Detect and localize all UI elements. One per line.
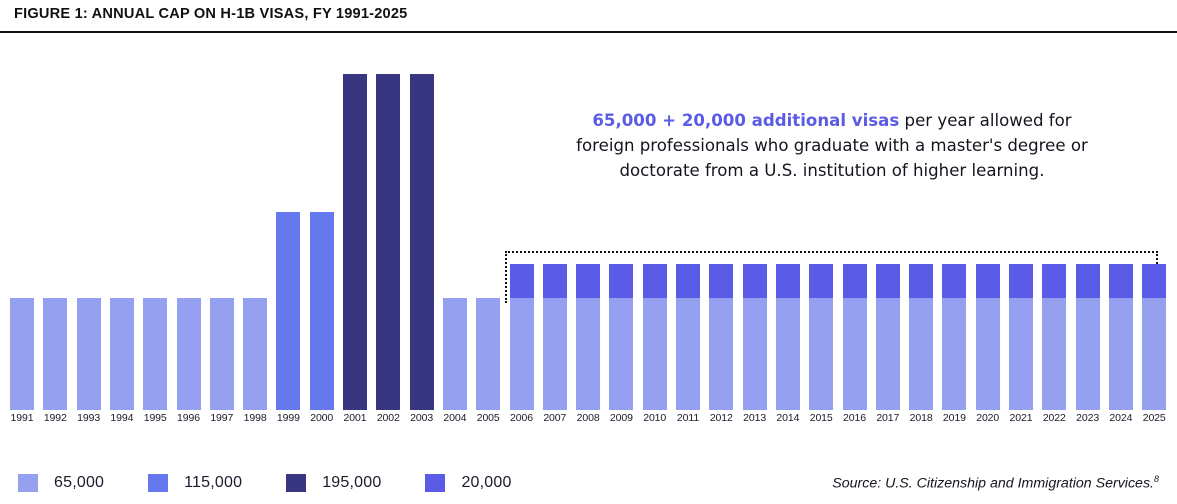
legend-swatch-icon <box>425 474 445 492</box>
x-tick-2014: 2014 <box>771 412 805 424</box>
x-tick-2017: 2017 <box>871 412 905 424</box>
bar-segment-advanced-degree <box>942 264 966 298</box>
x-tick-2013: 2013 <box>738 412 772 424</box>
bar-segment-base <box>10 298 34 410</box>
x-tick-2019: 2019 <box>937 412 971 424</box>
bar-segment-base <box>543 298 567 410</box>
bar-segment-base <box>410 74 434 410</box>
bar-segment-advanced-degree <box>843 264 867 298</box>
bar-segment-advanced-degree <box>809 264 833 298</box>
title-divider <box>0 31 1177 33</box>
bar-segment-advanced-degree <box>510 264 534 298</box>
x-tick-2015: 2015 <box>804 412 838 424</box>
bar-2001 <box>343 74 367 410</box>
bar-segment-base <box>743 298 767 410</box>
legend-item-20000[interactable]: 20,000 <box>425 474 511 492</box>
bar-1996 <box>177 298 201 410</box>
bar-segment-base <box>709 298 733 410</box>
bar-2009 <box>609 264 633 410</box>
bar-segment-base <box>876 298 900 410</box>
bar-2007 <box>543 264 567 410</box>
bar-segment-base <box>343 74 367 410</box>
bar-2016 <box>843 264 867 410</box>
bar-segment-base <box>809 298 833 410</box>
x-tick-2000: 2000 <box>305 412 339 424</box>
x-tick-2025: 2025 <box>1137 412 1171 424</box>
legend-item-65000[interactable]: 65,000 <box>18 474 104 492</box>
bar-1998 <box>243 298 267 410</box>
bar-segment-advanced-degree <box>743 264 767 298</box>
x-tick-2007: 2007 <box>538 412 572 424</box>
x-tick-1994: 1994 <box>105 412 139 424</box>
bar-segment-base <box>609 298 633 410</box>
legend-label: 20,000 <box>461 474 511 492</box>
x-axis-labels: 1991199219931994199519961997199819992000… <box>0 412 1177 432</box>
bar-2019 <box>942 264 966 410</box>
bar-segment-base <box>77 298 101 410</box>
bar-segment-base <box>776 298 800 410</box>
x-tick-1998: 1998 <box>238 412 272 424</box>
legend-label: 195,000 <box>322 474 381 492</box>
x-tick-2002: 2002 <box>371 412 405 424</box>
legend-swatch-icon <box>286 474 306 492</box>
bar-segment-base <box>643 298 667 410</box>
bar-segment-advanced-degree <box>1042 264 1066 298</box>
bar-2018 <box>909 264 933 410</box>
annotation-text: 65,000 + 20,000 additional visas per yea… <box>498 108 1166 183</box>
bar-segment-base <box>443 298 467 410</box>
page-title: FIGURE 1: ANNUAL CAP ON H-1B VISAS, FY 1… <box>14 6 407 22</box>
x-tick-2016: 2016 <box>838 412 872 424</box>
bar-segment-base <box>110 298 134 410</box>
legend-item-195000[interactable]: 195,000 <box>286 474 381 492</box>
x-tick-2009: 2009 <box>604 412 638 424</box>
bar-2005 <box>476 298 500 410</box>
bar-segment-base <box>276 212 300 410</box>
chart-plot-area <box>0 40 1177 410</box>
bar-2020 <box>976 264 1000 410</box>
bar-segment-base <box>843 298 867 410</box>
bar-2006 <box>510 264 534 410</box>
bar-segment-advanced-degree <box>609 264 633 298</box>
x-tick-2001: 2001 <box>338 412 372 424</box>
bar-segment-base <box>43 298 67 410</box>
bar-segment-base <box>909 298 933 410</box>
bar-segment-advanced-degree <box>1076 264 1100 298</box>
bar-segment-base <box>676 298 700 410</box>
bar-segment-advanced-degree <box>1009 264 1033 298</box>
x-tick-1995: 1995 <box>138 412 172 424</box>
bar-2004 <box>443 298 467 410</box>
x-tick-2005: 2005 <box>471 412 505 424</box>
x-tick-2010: 2010 <box>638 412 672 424</box>
x-tick-2008: 2008 <box>571 412 605 424</box>
x-tick-2021: 2021 <box>1004 412 1038 424</box>
x-tick-1992: 1992 <box>38 412 72 424</box>
bar-segment-base <box>376 74 400 410</box>
x-tick-2012: 2012 <box>704 412 738 424</box>
bar-1999 <box>276 212 300 410</box>
x-tick-2023: 2023 <box>1071 412 1105 424</box>
bar-segment-advanced-degree <box>1142 264 1166 298</box>
chart-legend: 65,000115,000195,00020,000 <box>18 472 556 494</box>
x-tick-2006: 2006 <box>505 412 539 424</box>
bar-segment-base <box>143 298 167 410</box>
bar-segment-base <box>976 298 1000 410</box>
bar-2017 <box>876 264 900 410</box>
bar-2002 <box>376 74 400 410</box>
x-tick-1999: 1999 <box>271 412 305 424</box>
bar-2022 <box>1042 264 1066 410</box>
bar-segment-base <box>510 298 534 410</box>
x-tick-2022: 2022 <box>1037 412 1071 424</box>
bar-2011 <box>676 264 700 410</box>
annotation-rest-line1: per year allowed for <box>899 111 1071 130</box>
bar-2024 <box>1109 264 1133 410</box>
annotation-line2: foreign professionals who graduate with … <box>576 136 1088 155</box>
x-tick-2024: 2024 <box>1104 412 1138 424</box>
bar-2023 <box>1076 264 1100 410</box>
bar-2015 <box>809 264 833 410</box>
bar-segment-base <box>576 298 600 410</box>
bar-segment-base <box>1042 298 1066 410</box>
bar-2012 <box>709 264 733 410</box>
legend-label: 65,000 <box>54 474 104 492</box>
figure-container: FIGURE 1: ANNUAL CAP ON H-1B VISAS, FY 1… <box>0 0 1177 504</box>
bar-1993 <box>77 298 101 410</box>
x-tick-1997: 1997 <box>205 412 239 424</box>
bar-segment-advanced-degree <box>776 264 800 298</box>
source-text: Source: U.S. Citizenship and Immigration… <box>832 476 1154 492</box>
bar-segment-base <box>177 298 201 410</box>
legend-item-115000[interactable]: 115,000 <box>148 474 242 492</box>
x-tick-2020: 2020 <box>971 412 1005 424</box>
annotation-highlight: 65,000 + 20,000 additional visas <box>592 111 899 130</box>
legend-swatch-icon <box>148 474 168 492</box>
x-tick-1991: 1991 <box>5 412 39 424</box>
bar-1995 <box>143 298 167 410</box>
bar-1997 <box>210 298 234 410</box>
bar-2010 <box>643 264 667 410</box>
bar-segment-base <box>1109 298 1133 410</box>
bar-segment-base <box>1142 298 1166 410</box>
bar-2013 <box>743 264 767 410</box>
bar-segment-base <box>1076 298 1100 410</box>
bar-segment-advanced-degree <box>576 264 600 298</box>
bar-segment-advanced-degree <box>543 264 567 298</box>
x-tick-1996: 1996 <box>172 412 206 424</box>
x-tick-2018: 2018 <box>904 412 938 424</box>
bar-1992 <box>43 298 67 410</box>
bar-segment-advanced-degree <box>976 264 1000 298</box>
bar-segment-base <box>1009 298 1033 410</box>
bar-segment-advanced-degree <box>709 264 733 298</box>
legend-label: 115,000 <box>184 474 242 492</box>
bar-2014 <box>776 264 800 410</box>
bar-2003 <box>410 74 434 410</box>
bar-segment-base <box>310 212 334 410</box>
source-footnote: 8 <box>1154 474 1159 484</box>
bar-2025 <box>1142 264 1166 410</box>
bar-2008 <box>576 264 600 410</box>
x-tick-2011: 2011 <box>671 412 705 424</box>
x-tick-2004: 2004 <box>438 412 472 424</box>
legend-swatch-icon <box>18 474 38 492</box>
bar-2021 <box>1009 264 1033 410</box>
source-note: Source: U.S. Citizenship and Immigration… <box>832 474 1159 492</box>
bar-segment-base <box>476 298 500 410</box>
x-tick-1993: 1993 <box>72 412 106 424</box>
bar-1994 <box>110 298 134 410</box>
bar-segment-advanced-degree <box>1109 264 1133 298</box>
bar-2000 <box>310 212 334 410</box>
bar-segment-advanced-degree <box>676 264 700 298</box>
bar-segment-advanced-degree <box>876 264 900 298</box>
bar-segment-advanced-degree <box>909 264 933 298</box>
annotation-line3: doctorate from a U.S. institution of hig… <box>620 161 1045 180</box>
bar-segment-advanced-degree <box>643 264 667 298</box>
bar-1991 <box>10 298 34 410</box>
bar-segment-base <box>210 298 234 410</box>
bar-segment-base <box>942 298 966 410</box>
bar-segment-base <box>243 298 267 410</box>
x-tick-2003: 2003 <box>405 412 439 424</box>
